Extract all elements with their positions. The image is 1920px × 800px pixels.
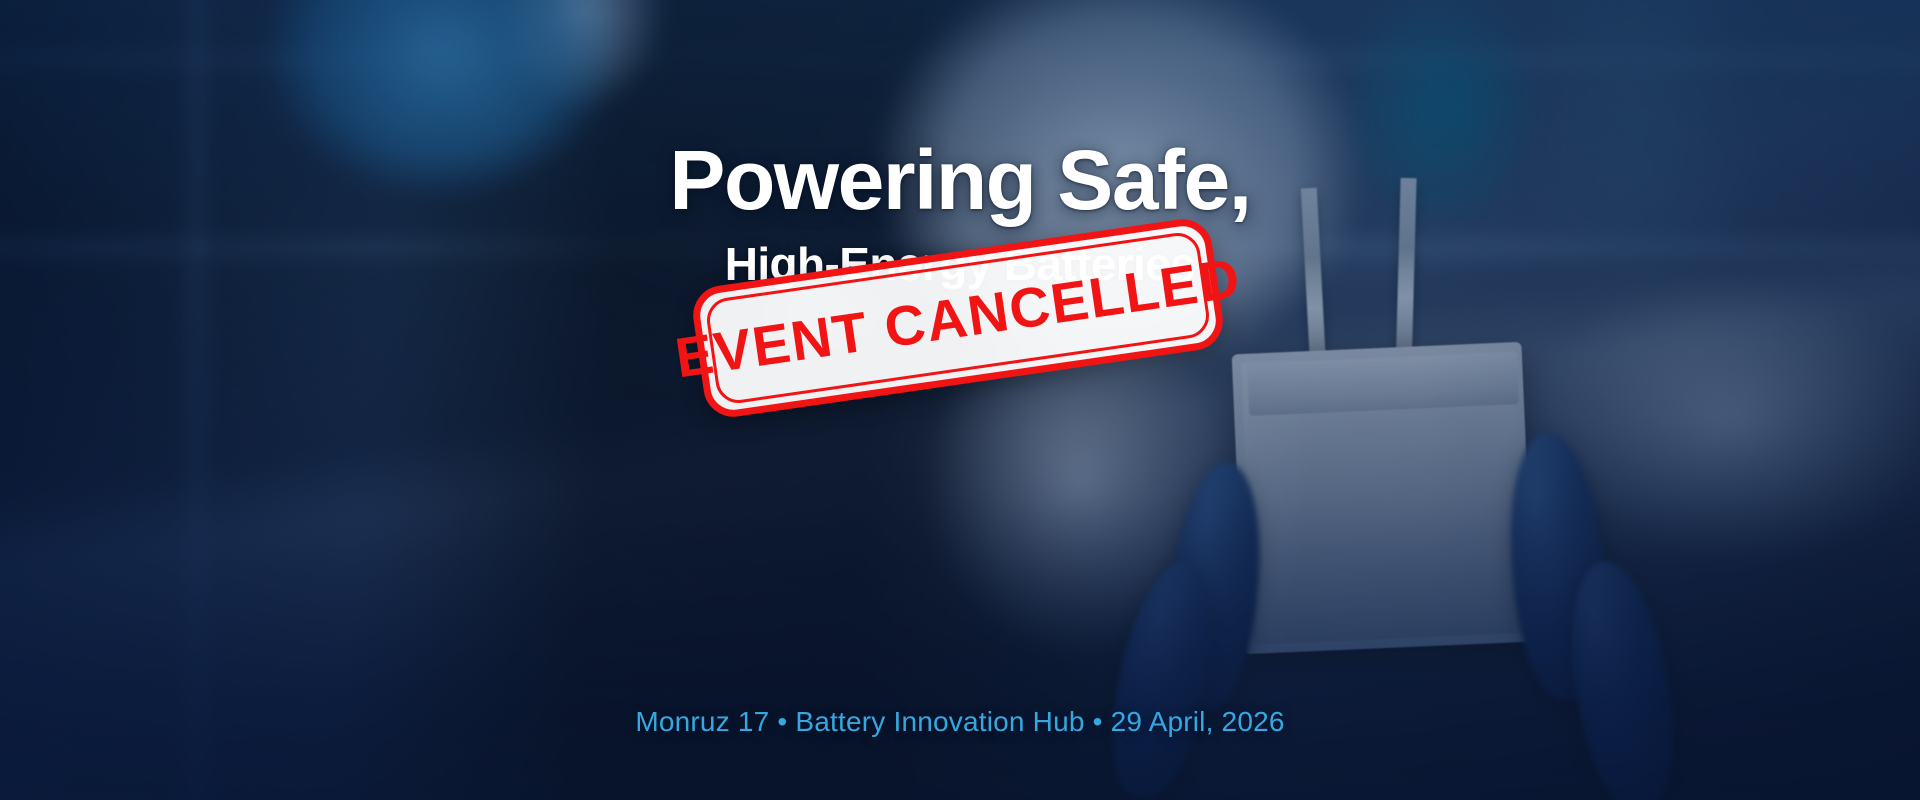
event-hero-banner: Powering Safe, High-Energy Batteries EVE…: [0, 0, 1920, 800]
event-details-line: Monruz 17 • Battery Innovation Hub • 29 …: [0, 706, 1920, 738]
page-title: Powering Safe,: [669, 138, 1250, 222]
hero-content: Powering Safe, High-Energy Batteries: [0, 0, 1920, 800]
